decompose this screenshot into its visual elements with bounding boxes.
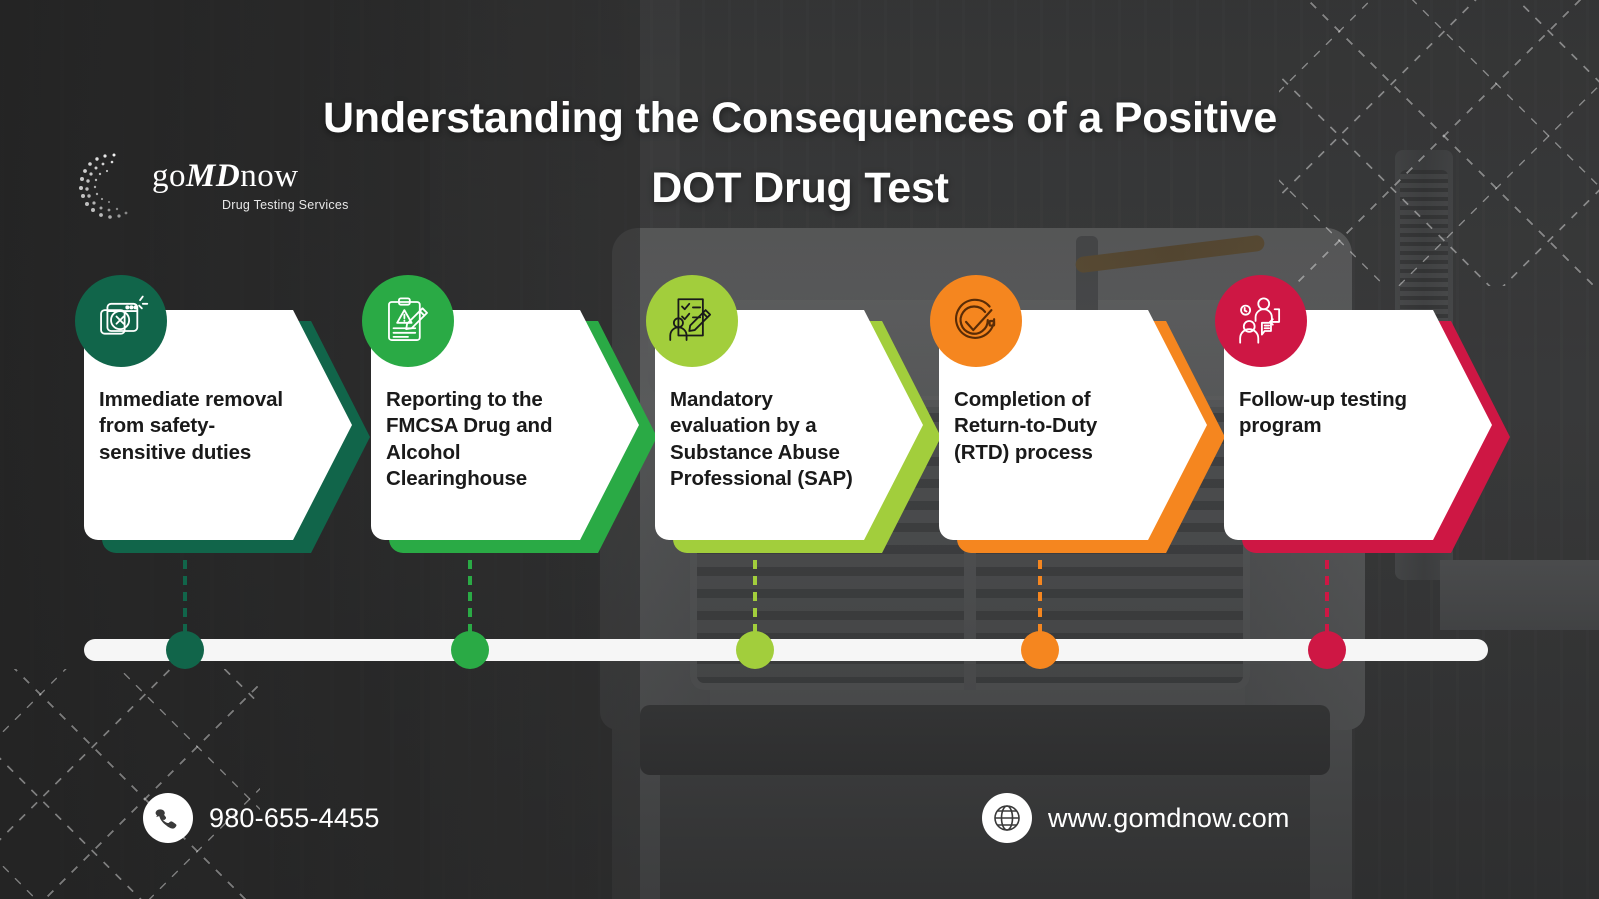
step-connector-4 — [1038, 560, 1042, 638]
phone-icon-circle — [143, 793, 193, 843]
globe-icon-circle — [982, 793, 1032, 843]
process-steps: Immediate removal from safety-sensitive … — [0, 0, 1599, 899]
screen-denied-icon — [92, 292, 150, 350]
step-label-1: Immediate removal from safety-sensitive … — [99, 387, 289, 466]
step-connector-2 — [468, 560, 472, 638]
step-icon-badge-4 — [930, 275, 1022, 367]
step-icon-badge-3 — [646, 275, 738, 367]
checklist-person-pencil-icon — [663, 292, 721, 350]
footer-phone-number: 980-655-4455 — [209, 803, 380, 834]
timeline-bar — [84, 639, 1488, 661]
step-icon-badge-5 — [1215, 275, 1307, 367]
footer-phone[interactable]: 980-655-4455 — [143, 793, 380, 843]
footer-website[interactable]: www.gomdnow.com — [982, 793, 1290, 843]
step-connector-3 — [753, 560, 757, 638]
people-repeat-icon — [1232, 292, 1290, 350]
timeline-dot-3[interactable] — [736, 631, 774, 669]
footer-website-url: www.gomdnow.com — [1048, 803, 1290, 834]
infographic-canvas: goMDnow Drug Testing Services Understand… — [0, 0, 1599, 899]
step-label-5: Follow-up testing program — [1239, 387, 1429, 440]
step-label-3: Mandatory evaluation by a Substance Abus… — [670, 387, 860, 493]
timeline-dot-1[interactable] — [166, 631, 204, 669]
step-connector-1 — [183, 560, 187, 638]
timeline-dot-4[interactable] — [1021, 631, 1059, 669]
step-connector-5 — [1325, 560, 1329, 638]
clipboard-warning-pencil-icon — [379, 292, 437, 350]
step-label-2: Reporting to the FMCSA Drug and Alcohol … — [386, 387, 576, 493]
timeline-dot-2[interactable] — [451, 631, 489, 669]
step-icon-badge-2 — [362, 275, 454, 367]
check-circle-icon — [947, 292, 1005, 350]
step-icon-badge-1 — [75, 275, 167, 367]
phone-call-icon — [151, 801, 185, 835]
timeline-dot-5[interactable] — [1308, 631, 1346, 669]
step-label-4: Completion of Return-to-Duty (RTD) proce… — [954, 387, 1144, 466]
globe-icon — [990, 801, 1024, 835]
